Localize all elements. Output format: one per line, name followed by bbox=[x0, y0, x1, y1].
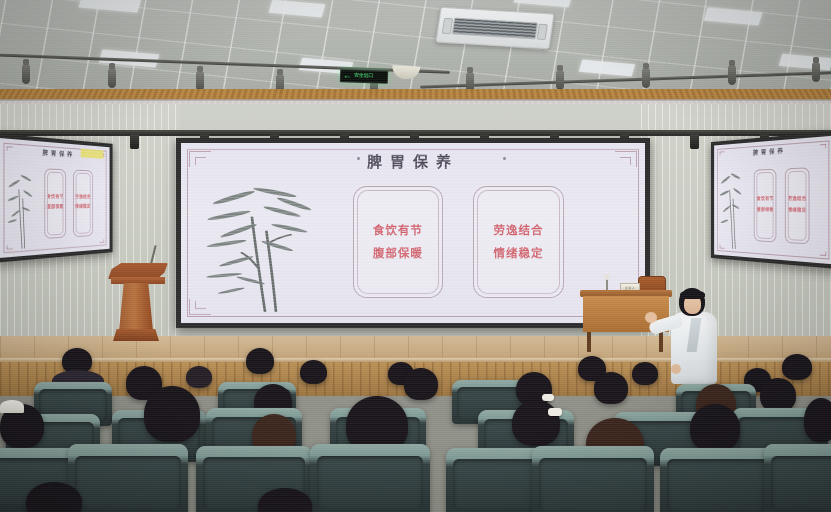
audience-head bbox=[186, 366, 212, 388]
main-slide-content: 脾胃保养 bbox=[181, 143, 645, 323]
audience-head bbox=[300, 360, 327, 384]
audience-area bbox=[0, 352, 831, 512]
stage-light bbox=[130, 134, 139, 149]
audience-head bbox=[760, 378, 796, 412]
slide-card-2: 劳逸结合 情绪稳定 bbox=[473, 186, 563, 298]
right-slide-content: 脾胃保养 食饮有节 腹部保暖 bbox=[714, 136, 831, 265]
bamboo-illustration-icon bbox=[4, 157, 36, 250]
corner-ornament-icon bbox=[99, 238, 107, 246]
slide-card-2: 劳逸结合 情绪稳定 bbox=[785, 168, 810, 245]
card-2-line-1: 劳逸结合 bbox=[75, 196, 91, 201]
audience-head bbox=[690, 404, 740, 452]
exit-sign-label: 安全出口 bbox=[354, 74, 373, 80]
audience-head bbox=[512, 400, 560, 446]
seat[interactable] bbox=[764, 444, 831, 512]
exit-arrow-icon: ← bbox=[343, 71, 352, 80]
audience-head bbox=[632, 362, 658, 385]
audience-head bbox=[804, 398, 831, 442]
lectern-podium[interactable] bbox=[108, 263, 168, 343]
slide-card-1: 食饮有节 腹部保暖 bbox=[353, 186, 443, 298]
audience-head bbox=[144, 386, 200, 442]
ceiling-air-conditioner bbox=[435, 7, 554, 50]
hair-clip bbox=[542, 394, 554, 401]
hair-clip bbox=[548, 408, 562, 416]
ceiling-spotlight bbox=[196, 71, 204, 91]
ceiling-spotlight bbox=[812, 62, 820, 82]
podium-base bbox=[113, 329, 159, 341]
card-1-line-1: 食饮有节 bbox=[757, 198, 774, 203]
audience-head bbox=[594, 372, 628, 404]
ceiling-spotlight bbox=[728, 65, 736, 85]
card-1-line-2: 腹部保暖 bbox=[47, 206, 64, 211]
card-1-line-1: 食饮有节 bbox=[373, 224, 423, 237]
main-projection-screen[interactable]: 脾胃保养 bbox=[176, 138, 650, 328]
right-projection-screen[interactable]: 脾胃保养 食饮有节 腹部保暖 bbox=[711, 131, 831, 269]
title-dot-right-icon bbox=[503, 157, 506, 160]
audience-head bbox=[246, 348, 274, 374]
slide-title: 脾胃保养 bbox=[181, 151, 645, 172]
audience-head bbox=[404, 368, 438, 400]
card-2-line-1: 劳逸结合 bbox=[788, 198, 807, 203]
ac-grille bbox=[452, 17, 538, 39]
bamboo-illustration-icon bbox=[718, 161, 746, 250]
seat[interactable] bbox=[310, 444, 430, 512]
corner-ornament-icon bbox=[819, 250, 830, 259]
stage-light bbox=[690, 134, 699, 149]
card-2-line-2: 情绪稳定 bbox=[788, 209, 807, 214]
card-2-line-2: 情绪稳定 bbox=[75, 206, 91, 211]
ceiling-spotlight bbox=[22, 64, 30, 84]
lecture-hall-scene: ← 安全出口 bbox=[0, 0, 831, 512]
card-2-line-1: 劳逸结合 bbox=[494, 224, 544, 237]
ac-vent-right bbox=[537, 24, 548, 40]
bamboo-illustration-icon bbox=[200, 172, 321, 312]
left-slide-content: 脾胃保养 食饮有节 腹部保暖 bbox=[0, 138, 110, 258]
podium-body bbox=[119, 283, 153, 331]
yellow-highlight-mark bbox=[81, 149, 104, 159]
slide-card-2: 劳逸结合 情绪稳定 bbox=[73, 170, 93, 237]
presenter-hair bbox=[680, 290, 705, 299]
audience-head bbox=[782, 354, 812, 380]
seat[interactable] bbox=[660, 448, 776, 512]
ceiling-spotlight bbox=[556, 70, 564, 90]
card-1-line-2: 腹部保暖 bbox=[373, 247, 423, 260]
card-1-line-2: 腹部保暖 bbox=[757, 209, 774, 214]
podium-shelf bbox=[111, 277, 165, 284]
slide-card-1: 食饮有节 腹部保暖 bbox=[44, 169, 66, 239]
card-2-line-2: 情绪稳定 bbox=[494, 247, 544, 260]
ceiling-spotlight bbox=[642, 68, 650, 88]
card-1-line-1: 食饮有节 bbox=[47, 196, 64, 201]
desk-leg bbox=[587, 332, 591, 352]
left-projection-screen[interactable]: 脾胃保养 食饮有节 腹部保暖 bbox=[0, 133, 113, 263]
presenter-hand bbox=[645, 312, 657, 323]
ceiling-spotlight bbox=[108, 68, 116, 88]
white-head-covering bbox=[0, 400, 24, 413]
emergency-exit-sign: ← 安全出口 bbox=[340, 69, 388, 84]
seat[interactable] bbox=[532, 446, 654, 512]
slide-card-1: 食饮有节 腹部保暖 bbox=[754, 169, 777, 243]
seat[interactable] bbox=[68, 444, 188, 512]
